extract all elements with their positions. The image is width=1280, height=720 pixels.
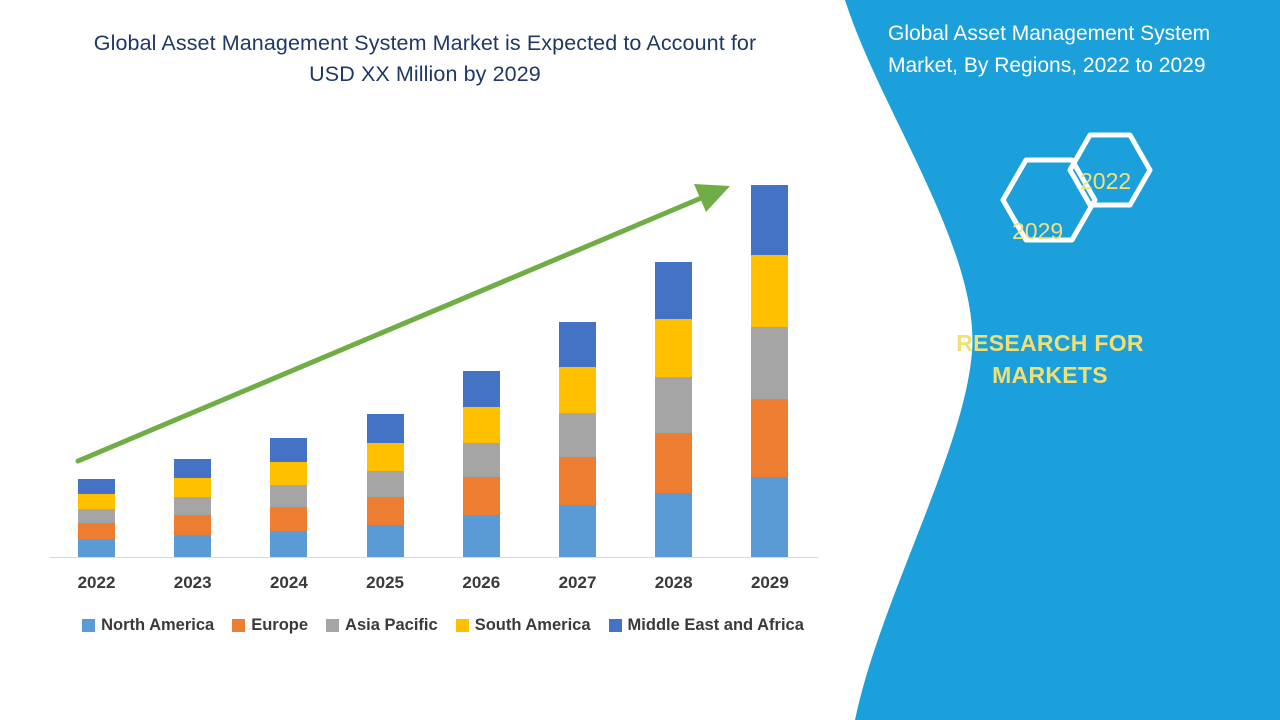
legend-swatch-icon bbox=[232, 619, 245, 632]
bar-stack bbox=[559, 322, 596, 557]
legend-label: Europe bbox=[251, 616, 308, 635]
bar-segment bbox=[78, 523, 115, 539]
bar-segment bbox=[559, 322, 596, 367]
brand-name-line-1: RESEARCH FOR bbox=[860, 327, 1240, 359]
bar-segment bbox=[559, 413, 596, 457]
x-axis-line bbox=[50, 557, 818, 558]
bar-segment bbox=[367, 471, 404, 497]
legend-label: South America bbox=[475, 616, 591, 635]
bar-segment bbox=[270, 438, 307, 462]
bar-segment bbox=[174, 478, 211, 497]
bar-segment bbox=[367, 525, 404, 557]
growth-trend-arrow-icon bbox=[0, 0, 860, 720]
bar-stack bbox=[463, 371, 500, 557]
brand-name-line-2: MARKETS bbox=[860, 359, 1240, 391]
bar-segment bbox=[655, 433, 692, 493]
bar-stack bbox=[655, 262, 692, 557]
bar-segment bbox=[655, 319, 692, 377]
hexagon-outlines-icon bbox=[980, 130, 1210, 290]
bar-stack bbox=[174, 459, 211, 557]
bar-segment bbox=[751, 185, 788, 255]
bar-segment bbox=[367, 497, 404, 525]
legend-item[interactable]: North America bbox=[82, 616, 214, 635]
x-axis-tick-2029: 2029 bbox=[725, 573, 815, 593]
bar-segment bbox=[559, 457, 596, 505]
bar-segment bbox=[78, 494, 115, 509]
hexagon-badges: 2022 2029 bbox=[980, 130, 1210, 290]
bar-segment bbox=[367, 414, 404, 443]
bar-stack bbox=[367, 414, 404, 557]
bar-segment bbox=[463, 515, 500, 557]
bar-segment bbox=[270, 507, 307, 531]
bar-segment bbox=[78, 539, 115, 557]
legend-item[interactable]: Europe bbox=[232, 616, 308, 635]
legend-label: Asia Pacific bbox=[345, 616, 438, 635]
bar-segment bbox=[463, 371, 500, 407]
legend-swatch-icon bbox=[326, 619, 339, 632]
bar-segment bbox=[174, 535, 211, 557]
x-axis-tick-2022: 2022 bbox=[52, 573, 142, 593]
bar-segment bbox=[559, 505, 596, 557]
x-axis-tick-2023: 2023 bbox=[148, 573, 238, 593]
bar-segment bbox=[174, 459, 211, 478]
bar-stack bbox=[751, 185, 788, 557]
bar-segment bbox=[270, 485, 307, 507]
legend-label: North America bbox=[101, 616, 214, 635]
bar-segment bbox=[655, 262, 692, 319]
legend-swatch-icon bbox=[456, 619, 469, 632]
x-axis-tick-2025: 2025 bbox=[340, 573, 430, 593]
bar-segment bbox=[751, 327, 788, 399]
bar-segment bbox=[751, 399, 788, 477]
bar-segment bbox=[655, 493, 692, 557]
hexagon-label-upper: 2022 bbox=[1080, 168, 1131, 195]
brand-panel: Global Asset Management System Market, B… bbox=[820, 0, 1280, 720]
bar-segment bbox=[751, 255, 788, 327]
legend-swatch-icon bbox=[82, 619, 95, 632]
x-axis-tick-2024: 2024 bbox=[244, 573, 334, 593]
brand-name: RESEARCH FOR MARKETS bbox=[860, 327, 1240, 391]
bar-segment bbox=[78, 509, 115, 523]
bar-segment bbox=[270, 531, 307, 557]
chart-legend: North AmericaEuropeAsia PacificSouth Ame… bbox=[48, 616, 838, 635]
bar-stack bbox=[78, 479, 115, 557]
legend-item[interactable]: Middle East and Africa bbox=[609, 616, 804, 635]
x-axis-tick-2026: 2026 bbox=[436, 573, 526, 593]
bar-segment bbox=[463, 477, 500, 515]
brand-panel-title: Global Asset Management System Market, B… bbox=[888, 18, 1268, 82]
legend-label: Middle East and Africa bbox=[628, 616, 804, 635]
bar-segment bbox=[367, 443, 404, 471]
bar-segment bbox=[463, 407, 500, 443]
legend-swatch-icon bbox=[609, 619, 622, 632]
bar-segment bbox=[270, 462, 307, 485]
bar-segment bbox=[174, 515, 211, 535]
bar-segment bbox=[174, 497, 211, 515]
bar-segment bbox=[559, 367, 596, 413]
hexagon-label-lower: 2029 bbox=[1012, 218, 1063, 245]
x-axis-tick-2028: 2028 bbox=[629, 573, 719, 593]
plot-area: 20222023202420252026202720282029 bbox=[0, 0, 860, 720]
bar-segment bbox=[655, 377, 692, 433]
bar-stack bbox=[270, 438, 307, 557]
bar-segment bbox=[78, 479, 115, 494]
x-axis-tick-2027: 2027 bbox=[533, 573, 623, 593]
legend-item[interactable]: Asia Pacific bbox=[326, 616, 438, 635]
legend-item[interactable]: South America bbox=[456, 616, 591, 635]
bar-segment bbox=[751, 477, 788, 557]
chart-panel: Global Asset Management System Market is… bbox=[0, 0, 860, 720]
bar-segment bbox=[463, 443, 500, 477]
